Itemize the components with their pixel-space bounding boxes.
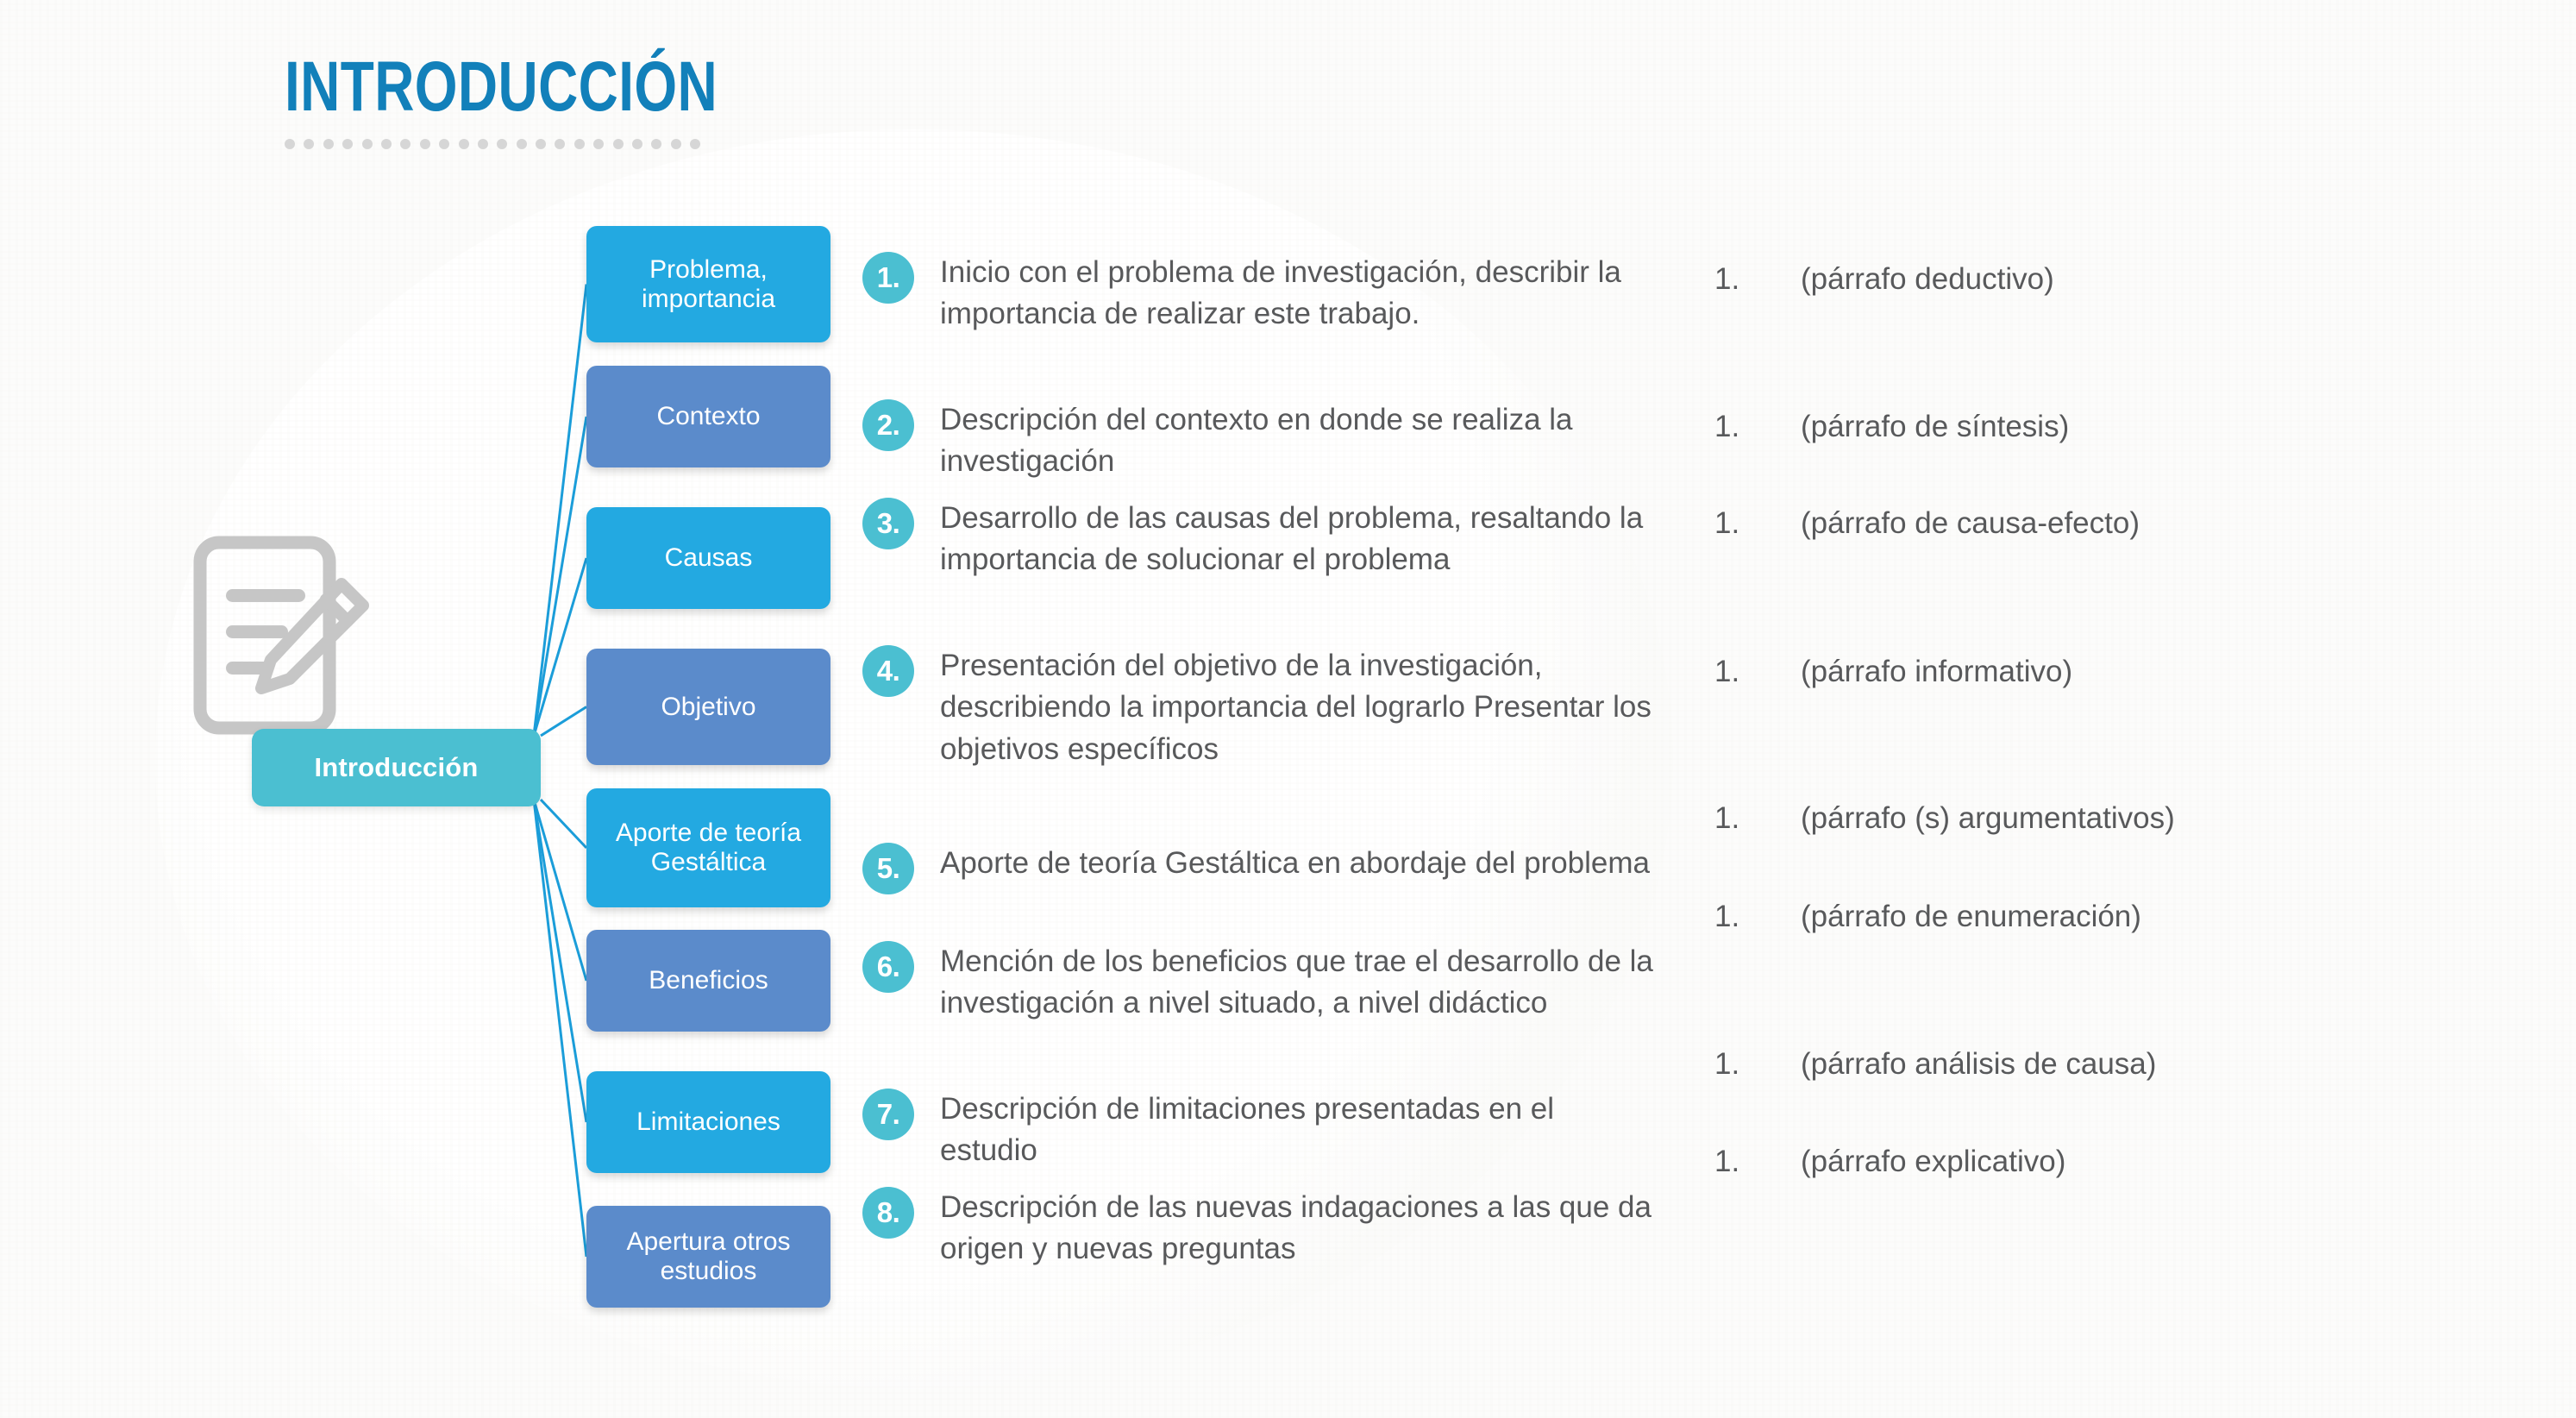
- paragraph-type-label: (párrafo explicativo): [1801, 1141, 2065, 1183]
- paragraph-type-label: (párrafo de causa-efecto): [1801, 503, 2140, 544]
- step-description: Descripción del contexto en donde se rea…: [940, 399, 1656, 483]
- mindmap-branch-5[interactable]: Aporte de teoría Gestáltica: [586, 788, 830, 907]
- mindmap-branch-3[interactable]: Causas: [586, 507, 830, 609]
- paragraph-type-number: 1.: [1714, 896, 1801, 938]
- step-item: 4.Presentación del objetivo de la invest…: [862, 645, 1656, 770]
- paragraph-type-item: 1.(párrafo (s) argumentativos): [1714, 798, 2175, 839]
- mindmap-branch-1[interactable]: Problema, importancia: [586, 226, 830, 342]
- mindmap-connector: [534, 800, 586, 1257]
- step-description: Desarrollo de las causas del problema, r…: [940, 498, 1656, 581]
- step-number-badge: 2.: [862, 399, 914, 451]
- step-item: 1.Inicio con el problema de investigació…: [862, 252, 1656, 336]
- step-item: 7.Descripción de limitaciones presentada…: [862, 1089, 1656, 1172]
- paragraph-type-item: 1.(párrafo deductivo): [1714, 259, 2054, 300]
- step-description: Mención de los beneficios que trae el de…: [940, 941, 1656, 1025]
- paragraph-type-label: (párrafo de síntesis): [1801, 406, 2069, 448]
- mindmap-connector: [541, 707, 586, 737]
- mindmap-root-label: Introducción: [314, 752, 478, 783]
- paragraph-type-item: 1.(párrafo análisis de causa): [1714, 1044, 2156, 1085]
- paragraph-type-number: 1.: [1714, 406, 1801, 448]
- mindmap-root-node[interactable]: Introducción: [252, 729, 541, 806]
- mindmap-branch-4[interactable]: Objetivo: [586, 649, 830, 765]
- mindmap-branch-label: Beneficios: [638, 966, 778, 995]
- mindmap-branch-7[interactable]: Limitaciones: [586, 1071, 830, 1173]
- mindmap-branch-2[interactable]: Contexto: [586, 366, 830, 467]
- mindmap-branch-label: Problema, importancia: [586, 255, 830, 313]
- step-number-badge: 6.: [862, 941, 914, 993]
- step-item: 3.Desarrollo de las causas del problema,…: [862, 498, 1656, 581]
- step-description: Presentación del objetivo de la investig…: [940, 645, 1656, 770]
- mindmap-branch-label: Aporte de teoría Gestáltica: [586, 819, 830, 876]
- mindmap-branch-label: Causas: [655, 543, 763, 573]
- paragraph-type-item: 1.(párrafo de síntesis): [1714, 406, 2069, 448]
- mindmap-branch-label: Contexto: [646, 402, 770, 431]
- step-number-badge: 7.: [862, 1089, 914, 1140]
- paragraph-type-number: 1.: [1714, 798, 1801, 839]
- paragraph-type-item: 1.(párrafo informativo): [1714, 651, 2072, 693]
- paragraph-type-item: 1.(párrafo de causa-efecto): [1714, 503, 2140, 544]
- mindmap-branch-6[interactable]: Beneficios: [586, 930, 830, 1032]
- mindmap-branch-label: Apertura otros estudios: [586, 1227, 830, 1285]
- paragraph-type-label: (párrafo deductivo): [1801, 259, 2054, 300]
- step-description: Descripción de las nuevas indagaciones a…: [940, 1187, 1656, 1271]
- step-number-badge: 3.: [862, 498, 914, 549]
- step-description: Aporte de teoría Gestáltica en abordaje …: [940, 843, 1656, 894]
- step-item: 2.Descripción del contexto en donde se r…: [862, 399, 1656, 483]
- step-number-badge: 4.: [862, 645, 914, 697]
- paragraph-type-number: 1.: [1714, 1141, 1801, 1183]
- step-number-badge: 5.: [862, 843, 914, 894]
- paragraph-type-number: 1.: [1714, 651, 1801, 693]
- mindmap-connector: [534, 417, 586, 736]
- step-item: 5.Aporte de teoría Gestáltica en abordaj…: [862, 843, 1656, 894]
- step-number-badge: 8.: [862, 1187, 914, 1239]
- step-description: Inicio con el problema de investigación,…: [940, 252, 1656, 336]
- mindmap-branch-label: Limitaciones: [626, 1107, 791, 1137]
- paragraph-type-label: (párrafo de enumeración): [1801, 896, 2141, 938]
- mindmap-connector: [541, 800, 586, 848]
- paragraph-type-label: (párrafo informativo): [1801, 651, 2072, 693]
- mindmap-branch-label: Objetivo: [650, 693, 766, 722]
- mindmap-connector: [534, 558, 586, 736]
- paragraph-type-number: 1.: [1714, 259, 1801, 300]
- step-number-badge: 1.: [862, 252, 914, 304]
- paragraph-type-number: 1.: [1714, 1044, 1801, 1085]
- mindmap-connector: [534, 285, 586, 737]
- paragraph-type-label: (párrafo análisis de causa): [1801, 1044, 2156, 1085]
- step-description: Descripción de limitaciones presentadas …: [940, 1089, 1656, 1172]
- paragraph-type-label: (párrafo (s) argumentativos): [1801, 798, 2175, 839]
- step-item: 6.Mención de los beneficios que trae el …: [862, 941, 1656, 1025]
- paragraph-type-number: 1.: [1714, 503, 1801, 544]
- mindmap: Introducción Problema, importanciaContex…: [0, 0, 914, 1418]
- step-item: 8.Descripción de las nuevas indagaciones…: [862, 1187, 1656, 1271]
- document-pencil-icon: [188, 530, 386, 750]
- paragraph-type-item: 1.(párrafo de enumeración): [1714, 896, 2141, 938]
- mindmap-branch-8[interactable]: Apertura otros estudios: [586, 1206, 830, 1308]
- mindmap-connector: [534, 800, 586, 1122]
- paragraph-type-item: 1.(párrafo explicativo): [1714, 1141, 2065, 1183]
